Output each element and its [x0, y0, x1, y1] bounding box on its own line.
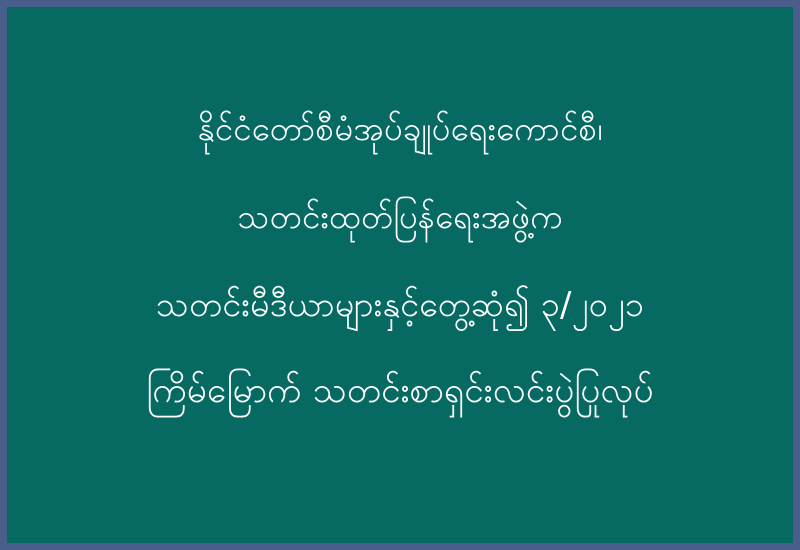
announcement-text-block: နိုင်ငံတော်စီမံအုပ်ချုပ်ရေးကောင်စီ၊ သတင်… [7, 103, 793, 417]
headline-line-3: သတင်းမီဒီယာများနှင့်တွေ့ဆုံ၍ ၃/၂၀၂၁ [156, 279, 644, 331]
headline-line-2: သတင်းထုတ်ပြန်ရေးအဖွဲ့က [237, 191, 562, 243]
announcement-card: နိုင်ငံတော်စီမံအုပ်ချုပ်ရေးကောင်စီ၊ သတင်… [0, 0, 800, 550]
headline-line-1: နိုင်ငံတော်စီမံအုပ်ချုပ်ရေးကောင်စီ၊ [197, 103, 602, 155]
headline-line-4: ကြိမ်မြောက် သတင်းစာရှင်းလင်းပွဲပြုလုပ် [146, 365, 653, 417]
